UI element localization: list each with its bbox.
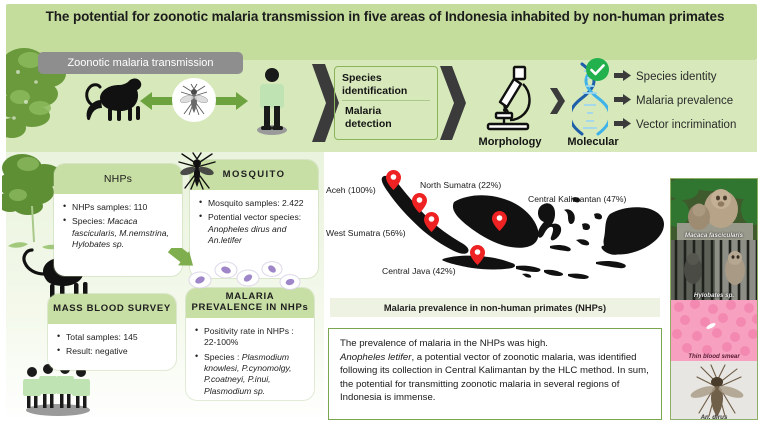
arrow-right-icon	[614, 68, 631, 86]
card-mass-blood-survey-title: MASS BLOOD SURVEY	[48, 294, 176, 324]
list-item: Mosquito samples: 2.422	[199, 198, 311, 209]
map-label-north-sumatra: North Sumatra (22%)	[420, 180, 501, 190]
photo-caption: An. dirus	[671, 414, 757, 421]
card-nhps-title: NHPs	[54, 164, 182, 194]
map-pin-central-java[interactable]	[470, 245, 485, 265]
card-nhps-body: NHPs samples: 110 Species: Macaca fascic…	[54, 194, 182, 259]
list-item: Species: Macaca fascicularis, M.nemstrin…	[63, 216, 175, 250]
blood-cells-decoration-icon	[186, 256, 304, 296]
map-caption: Malaria prevalence in non-human primates…	[330, 298, 660, 317]
arrow-right-icon	[214, 92, 248, 110]
list-item-text: NHPs samples: 110	[72, 202, 147, 212]
species-identification-label: Species identification	[342, 72, 430, 101]
list-item-text: Species :	[204, 352, 242, 362]
zoonotic-pill-text: Zoonotic malaria transmission	[67, 57, 213, 69]
card-mass-blood-survey-body: Total samples: 145 Result: negative	[48, 324, 176, 367]
outcome-item-vector-incrimination: Vector incrimination	[614, 114, 762, 136]
indonesia-map: Aceh (100%) North Sumatra (22%) West Sum…	[326, 166, 664, 292]
zoonotic-transmission-label: Zoonotic malaria transmission	[38, 52, 243, 74]
conclusion-line-1: The prevalence of malaria in the NHPs wa…	[340, 338, 548, 349]
monkey-silhouette-icon	[84, 76, 148, 124]
card-nhps: NHPs NHPs samples: 110 Species: Macaca f…	[54, 164, 182, 276]
graphical-abstract: The potential for zoonotic malaria trans…	[0, 0, 763, 429]
outcome-list: Species identity Malaria prevalence Vect…	[614, 66, 762, 138]
list-item-text: Mosquito samples: 2.422	[208, 198, 304, 208]
list-item-text: Result: negative	[66, 346, 128, 356]
outcome-label: Malaria prevalence	[636, 95, 733, 107]
malaria-detection-label: Malaria detection	[342, 101, 430, 130]
list-item-text: Species:	[72, 216, 107, 226]
microscope-icon	[478, 64, 540, 136]
map-label-central-java: Central Java (42%)	[382, 266, 456, 276]
arrow-down-right-icon	[168, 248, 196, 272]
list-item: Species : Plasmodium knowlesi, P.cynomol…	[195, 352, 307, 397]
morphology-label: Morphology	[458, 136, 562, 148]
mosquito-icon-2	[176, 152, 218, 190]
photo-caption: Macaca fascicularis	[671, 232, 757, 239]
list-item: NHPs samples: 110	[63, 202, 175, 213]
map-pin-aceh[interactable]	[386, 170, 401, 190]
map-pin-north-sumatra[interactable]	[412, 193, 427, 213]
photo-macaca-fascicularis: Macaca fascicularis	[671, 179, 757, 240]
photo-caption: Thin blood smear	[671, 353, 757, 360]
photo-caption: Hylobates sp.	[671, 292, 757, 299]
list-item: Total samples: 145	[57, 332, 169, 343]
check-circle-icon	[586, 58, 609, 81]
list-item: Result: negative	[57, 346, 169, 357]
map-label-aceh: Aceh (100%)	[326, 185, 376, 195]
list-item-text: Potential vector species:	[208, 212, 301, 222]
arrow-right-icon	[614, 92, 631, 110]
human-figure-icon	[252, 66, 292, 136]
map-label-west-sumatra: West Sumatra (56%)	[326, 228, 406, 238]
conclusion-species-italic: Anopheles letifer	[340, 352, 411, 363]
map-pin-central-kalimantan[interactable]	[492, 211, 507, 231]
photo-hylobates-sp: Hylobates sp.	[671, 240, 757, 301]
chevron-right-icon-3	[549, 88, 565, 114]
card-mosquito-body: Mosquito samples: 2.422 Potential vector…	[190, 190, 318, 255]
list-item: Potential vector species: Anopheles diru…	[199, 212, 311, 246]
mosquito-icon	[172, 78, 216, 122]
photo-an-dirus: An. dirus	[671, 361, 757, 421]
list-item-text: Total samples: 145	[66, 332, 138, 342]
map-caption-text: Malaria prevalence in non-human primates…	[384, 303, 606, 313]
card-malaria-prevalence: MALARIA PREVALENCE IN NHPs Positivity ra…	[186, 288, 314, 400]
map-label-central-kalimantan: Central Kalimantan (47%)	[528, 194, 626, 204]
list-item-italic: Anopheles dirus and An.letifer	[208, 224, 286, 245]
outcome-item-species-identity: Species identity	[614, 66, 762, 88]
card-malaria-prevalence-body: Positivity rate in NHPs : 22-100% Specie…	[186, 318, 314, 400]
outcome-label: Species identity	[636, 71, 717, 83]
arrow-right-icon	[614, 116, 631, 134]
chevron-right-icon-2	[440, 66, 466, 140]
page-title: The potential for zoonotic malaria trans…	[40, 7, 730, 27]
list-item: Positivity rate in NHPs : 22-100%	[195, 326, 307, 349]
photo-thin-blood-smear: Thin blood smear	[671, 300, 757, 361]
conclusion-box: The prevalence of malaria in the NHPs wa…	[328, 328, 662, 420]
list-item-text: Positivity rate in NHPs : 22-100%	[204, 326, 294, 347]
outcome-item-malaria-prevalence: Malaria prevalence	[614, 90, 762, 112]
outcome-label: Vector incrimination	[636, 119, 736, 131]
species-identification-box: Species identification Malaria detection	[334, 66, 438, 140]
card-mass-blood-survey: MASS BLOOD SURVEY Total samples: 145 Res…	[48, 294, 176, 370]
photo-column: Macaca fascicularis Hylo	[670, 178, 758, 420]
map-pin-west-sumatra[interactable]	[424, 212, 439, 232]
